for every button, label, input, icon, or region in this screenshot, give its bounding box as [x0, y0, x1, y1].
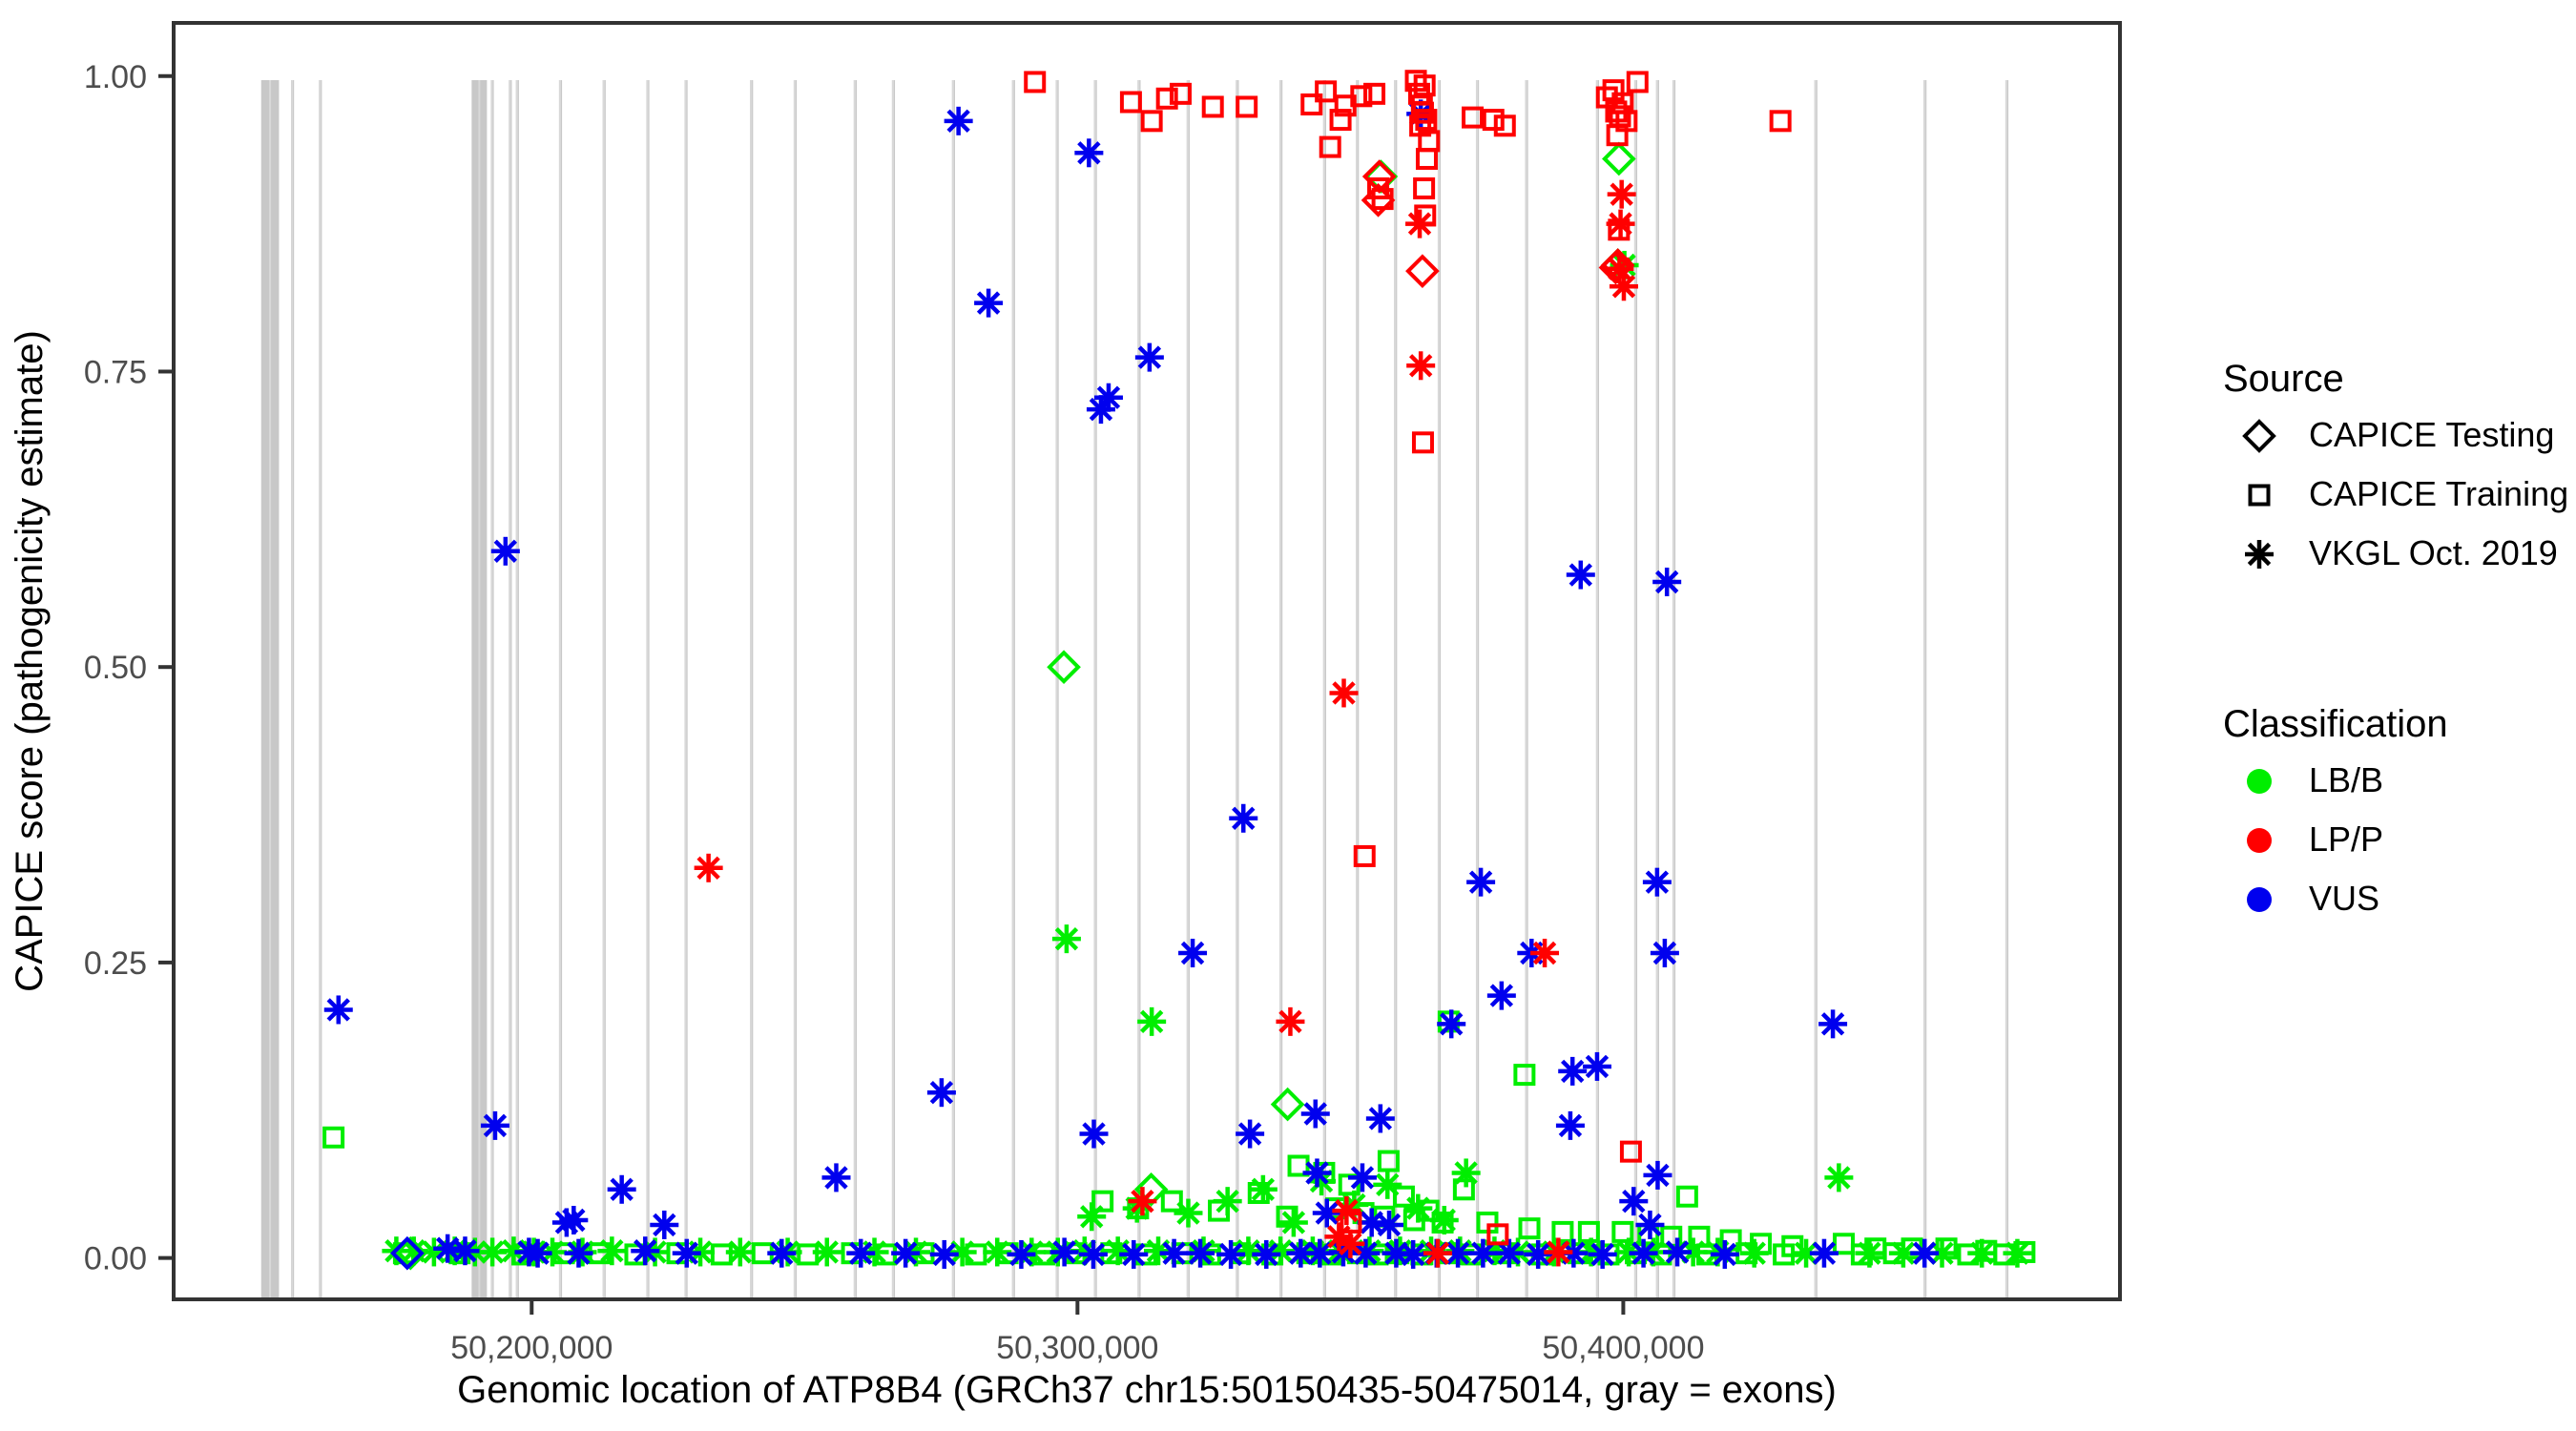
legend-title: Classification [2223, 703, 2448, 745]
data-point [1366, 1104, 1395, 1132]
data-point [1330, 678, 1359, 707]
data-point [1530, 939, 1559, 967]
legend-key-square [2251, 487, 2269, 505]
data-point [524, 1239, 552, 1268]
data-point [1414, 433, 1432, 451]
data-point [673, 1239, 701, 1268]
data-point [1403, 1194, 1432, 1223]
data-point [1302, 1158, 1331, 1187]
series-lp-p-vkgl [695, 180, 1638, 1268]
data-point [1348, 1163, 1377, 1192]
data-point [1249, 1175, 1278, 1204]
data-point [1423, 1239, 1452, 1268]
legend-source: SourceCAPICE TestingCAPICE TrainingVKGL … [2223, 358, 2568, 572]
data-point [927, 1078, 956, 1107]
data-point [1236, 1120, 1264, 1149]
data-point [1643, 868, 1672, 897]
data-point [1619, 1187, 1648, 1215]
data-point [1119, 1240, 1148, 1269]
y-tick-label: 0.25 [84, 945, 147, 982]
data-points [324, 72, 2034, 1269]
data-point [1080, 1120, 1109, 1149]
data-point [1437, 1009, 1465, 1038]
data-point [1163, 1192, 1181, 1211]
data-point [983, 1237, 1011, 1266]
data-point [1143, 112, 1161, 130]
data-point [1630, 1239, 1658, 1268]
data-point [1663, 1237, 1692, 1266]
data-point [799, 1245, 817, 1263]
data-point [1276, 1007, 1304, 1036]
data-point [1810, 1239, 1839, 1268]
data-point [1967, 1239, 1996, 1268]
data-point [1007, 1240, 1035, 1269]
data-point [1332, 1196, 1361, 1225]
data-point [1214, 1187, 1242, 1215]
data-point [695, 854, 723, 882]
data-point [650, 1211, 678, 1239]
data-point [1216, 1240, 1245, 1269]
data-point [1818, 1009, 1847, 1038]
data-point [1178, 939, 1207, 967]
legend-item-label[interactable]: CAPICE Training [2309, 474, 2568, 513]
data-point [1485, 111, 1503, 129]
data-point [1629, 73, 1647, 91]
data-point [1824, 1163, 1853, 1192]
legend-key-diamond [2245, 422, 2274, 450]
data-point [1678, 1188, 1696, 1206]
data-point [1711, 1240, 1739, 1269]
data-point [1405, 210, 1434, 238]
data-point [631, 1236, 659, 1265]
x-axis-title: Genomic location of ATP8B4 (GRCh37 chr15… [457, 1369, 1837, 1411]
data-point [1160, 1239, 1189, 1268]
series-lp-p-capice-testing [1364, 162, 1632, 285]
data-point [1643, 1161, 1672, 1190]
data-point [1274, 1090, 1302, 1119]
data-point [1515, 1066, 1533, 1084]
data-point [1301, 1099, 1330, 1128]
legend-item-label[interactable]: CAPICE Testing [2309, 415, 2554, 454]
data-point [1430, 1206, 1459, 1234]
data-point [1580, 1223, 1598, 1241]
data-point [1622, 1143, 1640, 1161]
data-point [1052, 924, 1081, 953]
data-point [1079, 1240, 1108, 1269]
data-point [1635, 1211, 1664, 1239]
capice-scatter-figure: 0.000.250.500.751.00 50,200,00050,300,00… [0, 0, 2576, 1431]
y-tick-label: 0.50 [84, 650, 147, 686]
data-point [974, 289, 1003, 318]
x-tick-label: 50,400,000 [1542, 1330, 1704, 1366]
legend-item-label[interactable]: VKGL Oct. 2019 [2309, 533, 2558, 572]
data-point [1556, 1111, 1585, 1140]
legend-classification: ClassificationLB/BLP/PVUS [2223, 703, 2448, 918]
data-point [1279, 1208, 1308, 1236]
data-point [1607, 210, 1635, 238]
data-point [1375, 1211, 1403, 1239]
data-point [1835, 1234, 1853, 1253]
data-point [1252, 1240, 1280, 1269]
data-point [1074, 138, 1103, 167]
legend-item-label[interactable]: VUS [2309, 879, 2379, 918]
data-point [945, 107, 973, 135]
data-point [1496, 116, 1514, 135]
data-point [1229, 804, 1257, 833]
data-point [1408, 257, 1437, 285]
data-point [1415, 179, 1433, 197]
exon-bands [261, 80, 2008, 1299]
data-point [552, 1208, 581, 1236]
y-tick-label: 0.75 [84, 354, 147, 390]
data-point [481, 1111, 509, 1140]
data-point [1544, 1237, 1572, 1266]
legend-item-label[interactable]: LB/B [2309, 760, 2383, 799]
chart-canvas: 0.000.250.500.751.00 50,200,00050,300,00… [0, 0, 2576, 1431]
series-lb-b-vkgl [382, 251, 2031, 1268]
data-point [1186, 1239, 1215, 1268]
data-point [767, 1239, 796, 1268]
data-point [1740, 1239, 1769, 1268]
data-point [1406, 351, 1435, 380]
y-axis: 0.000.250.500.751.00 [84, 59, 174, 1277]
data-point [813, 1237, 841, 1266]
data-point [1418, 150, 1436, 168]
legend-key-asterisk [2245, 540, 2274, 569]
data-point [1652, 568, 1681, 596]
data-point [1373, 1171, 1402, 1199]
x-axis: 50,200,00050,300,00050,400,000 [450, 1299, 1704, 1366]
data-point [1050, 1237, 1079, 1266]
data-point [1464, 109, 1482, 127]
data-point [1237, 97, 1256, 115]
data-point [324, 995, 353, 1024]
y-axis-title: CAPICE score (pathogenicity estimate) [9, 330, 51, 992]
data-point [324, 1129, 343, 1147]
legend-key-dot [2247, 828, 2272, 853]
data-point [564, 1239, 592, 1268]
data-point [597, 1236, 626, 1265]
data-point [930, 1240, 959, 1269]
data-point [1128, 1187, 1156, 1215]
data-point [726, 1237, 755, 1266]
data-point [1087, 395, 1115, 424]
data-point [1651, 939, 1679, 967]
data-point [1558, 1057, 1587, 1086]
data-point [1174, 1199, 1202, 1228]
data-point [1605, 144, 1633, 173]
legend-key-dot [2247, 887, 2272, 912]
data-point [821, 1163, 850, 1192]
vertical-gridlines [270, 80, 2006, 1299]
data-point [1204, 97, 1222, 115]
data-point [1772, 112, 1790, 130]
data-point [1137, 1007, 1166, 1036]
data-point [491, 537, 520, 566]
x-tick-label: 50,300,000 [996, 1330, 1158, 1366]
data-point [1608, 180, 1636, 209]
data-point [891, 1239, 920, 1268]
y-tick-label: 1.00 [84, 59, 147, 95]
data-point [1122, 93, 1140, 112]
data-point [1452, 1158, 1481, 1187]
panel-border [174, 23, 2120, 1299]
y-tick-label: 0.00 [84, 1241, 147, 1277]
legend-item-label[interactable]: LP/P [2309, 819, 2383, 859]
data-point [1567, 561, 1595, 590]
data-point [1466, 868, 1495, 897]
data-point [1026, 73, 1044, 91]
data-point [1336, 1230, 1364, 1258]
data-point [608, 1175, 636, 1204]
legend-title: Source [2223, 358, 2344, 400]
data-point [1855, 1239, 1883, 1268]
data-point [1049, 653, 1078, 681]
data-point [1605, 255, 1633, 283]
data-point [1077, 1202, 1106, 1231]
data-point [1521, 1219, 1539, 1237]
data-point [450, 1236, 479, 1265]
series-vus-vkgl [324, 99, 1939, 1269]
data-point [713, 1245, 731, 1263]
data-point [2003, 1239, 2031, 1268]
data-point [1135, 343, 1164, 372]
x-tick-label: 50,200,000 [450, 1330, 613, 1366]
data-point [1487, 982, 1516, 1010]
data-point [1910, 1239, 1939, 1268]
data-point [846, 1239, 875, 1268]
data-point [1583, 1052, 1611, 1081]
data-point [1589, 1240, 1617, 1269]
legend-key-dot [2247, 769, 2272, 794]
